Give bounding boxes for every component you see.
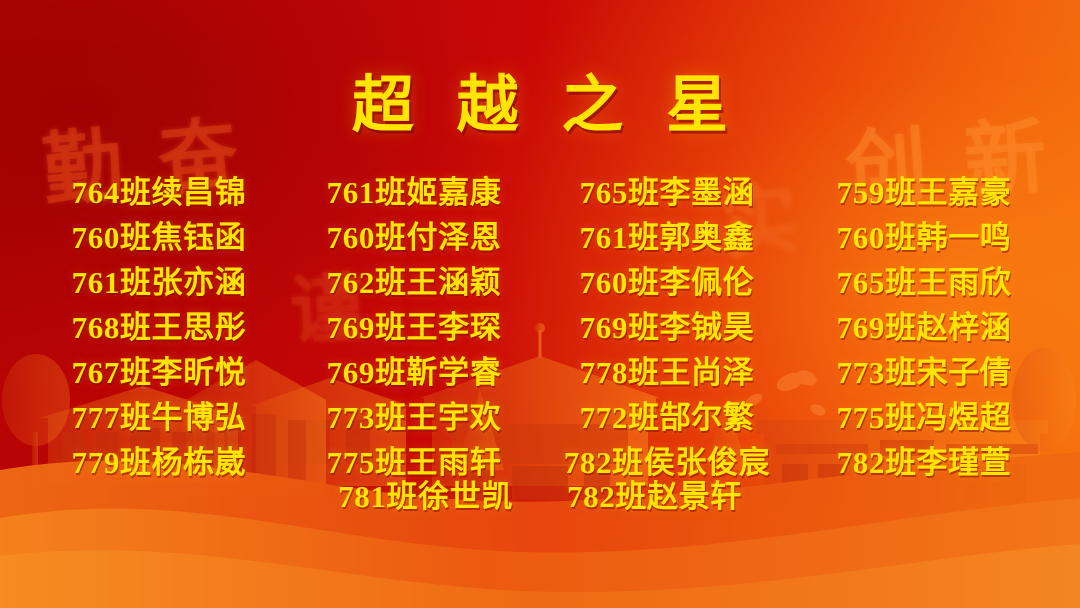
list-item: 764班续昌锦 [72,170,247,215]
list-item: 775班冯煜超 [837,395,1012,440]
list-item: 760班韩一鸣 [837,215,1012,260]
list-item: 773班王宇欢 [327,395,502,440]
list-item: 777班牛博弘 [72,395,247,440]
list-item: 769班赵梓涵 [837,305,1012,350]
roster-column-2: 761班姬嘉康 760班付泽恩 762班王涵颖 769班王李琛 769班靳学睿 … [290,170,538,485]
list-item: 782班赵景轩 [567,476,742,518]
list-item: 767班李昕悦 [72,350,247,395]
list-item: 761班姬嘉康 [327,170,502,215]
list-item: 765班李墨涵 [580,170,755,215]
list-item: 761班郭奥鑫 [580,215,755,260]
list-item: 759班王嘉豪 [837,170,1012,215]
roster-column-4: 759班王嘉豪 760班韩一鸣 765班王雨欣 769班赵梓涵 773班宋子倩 … [796,170,1052,485]
list-item: 768班王思彤 [72,305,247,350]
list-item: 769班王李琛 [327,305,502,350]
list-item: 778班王尚泽 [580,350,755,395]
list-item: 761班张亦涵 [72,260,247,305]
list-item: 760班李佩伦 [580,260,755,305]
list-item: 760班焦钰函 [72,215,247,260]
list-item: 765班王雨欣 [837,260,1012,305]
page-title: 超 越 之 星 [0,54,1080,144]
roster-column-3: 765班李墨涵 761班郭奥鑫 760班李佩伦 769班李铖昊 778班王尚泽 … [538,170,796,485]
list-item: 769班李铖昊 [580,305,755,350]
list-item: 772班郜尔繁 [580,395,755,440]
honor-roll-grid: 764班续昌锦 760班焦钰函 761班张亦涵 768班王思彤 767班李昕悦 … [0,170,1080,485]
list-item: 773班宋子倩 [837,350,1012,395]
list-item: 762班王涵颖 [327,260,502,305]
honor-roll-poster: 勤 奋 创 新 实 谨 超 越 之 星 764班续昌锦 760班焦钰函 761班… [0,0,1080,608]
list-item: 769班靳学睿 [327,350,502,395]
honor-roll-last-row: 781班徐世凯 782班赵景轩 [0,476,1080,518]
roster-column-1: 764班续昌锦 760班焦钰函 761班张亦涵 768班王思彤 767班李昕悦 … [28,170,290,485]
list-item: 781班徐世凯 [338,476,513,518]
list-item: 760班付泽恩 [327,215,502,260]
